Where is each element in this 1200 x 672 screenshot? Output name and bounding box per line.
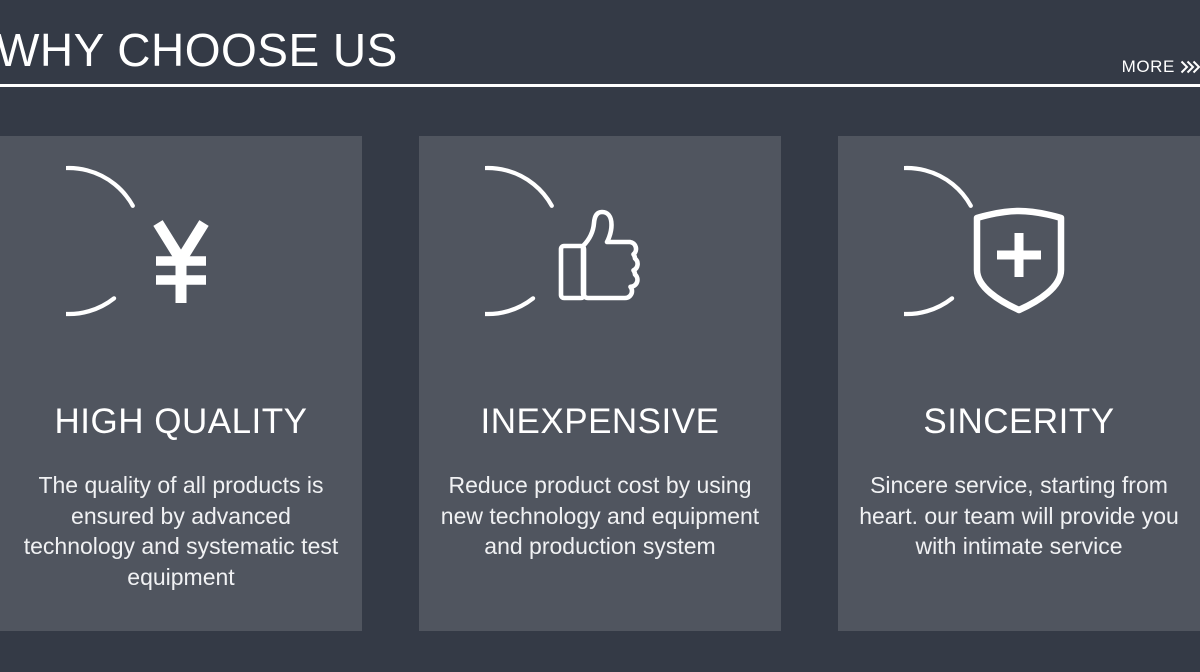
chevron-right-triple-icon	[1180, 60, 1198, 74]
feature-card-description: The quality of all products is ensured b…	[0, 470, 362, 592]
section-header: WHY CHOOSE US MORE	[0, 0, 1200, 87]
feature-card-description: Sincere service, starting from heart. ou…	[838, 470, 1200, 562]
yen-currency-circle-icon	[66, 147, 296, 377]
page-title: WHY CHOOSE US	[0, 22, 398, 78]
more-link-label: MORE	[1122, 58, 1175, 76]
more-link[interactable]: MORE	[1122, 58, 1198, 76]
thumbs-up-circle-icon	[485, 147, 715, 377]
feature-card-inexpensive[interactable]: INEXPENSIVE Reduce product cost by using…	[419, 136, 781, 631]
feature-card-title: INEXPENSIVE	[419, 400, 781, 444]
shield-plus-circle-icon	[904, 147, 1134, 377]
feature-card-high-quality[interactable]: HIGH QUALITY The quality of all products…	[0, 136, 362, 631]
feature-card-title: SINCERITY	[838, 400, 1200, 444]
feature-cards-row: HIGH QUALITY The quality of all products…	[0, 136, 1200, 631]
header-divider	[0, 84, 1200, 87]
feature-card-sincerity[interactable]: SINCERITY Sincere service, starting from…	[838, 136, 1200, 631]
feature-card-title: HIGH QUALITY	[0, 400, 362, 444]
feature-card-description: Reduce product cost by using new technol…	[419, 470, 781, 562]
